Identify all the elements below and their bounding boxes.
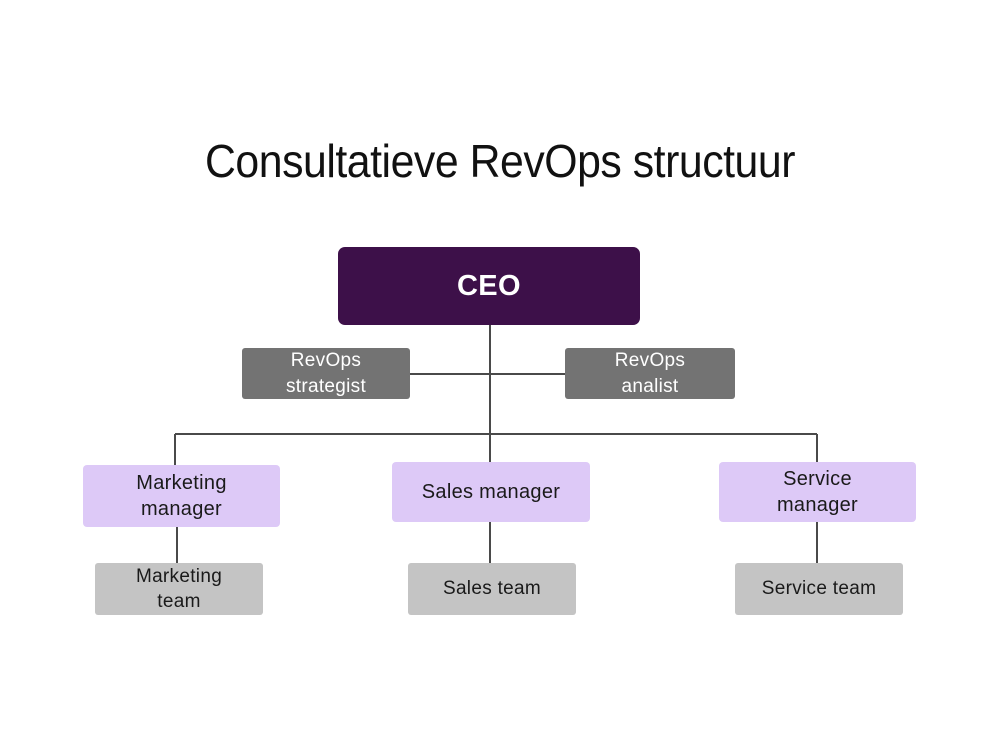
node-ceo[interactable]: CEO <box>338 247 640 325</box>
node-service-manager[interactable]: Service manager <box>719 462 916 522</box>
org-chart-canvas: Consultatieve RevOps structuur CEO RevOp… <box>0 0 1000 750</box>
page-title: Consultatieve RevOps structuur <box>35 134 965 188</box>
node-revops-strategist[interactable]: RevOps strategist <box>242 348 410 399</box>
node-marketing-manager[interactable]: Marketing manager <box>83 465 280 527</box>
node-marketing-team[interactable]: Marketing team <box>95 563 263 615</box>
node-sales-team[interactable]: Sales team <box>408 563 576 615</box>
connector-lines <box>0 0 1000 750</box>
node-revops-analist[interactable]: RevOps analist <box>565 348 735 399</box>
node-service-team[interactable]: Service team <box>735 563 903 615</box>
node-sales-manager[interactable]: Sales manager <box>392 462 590 522</box>
